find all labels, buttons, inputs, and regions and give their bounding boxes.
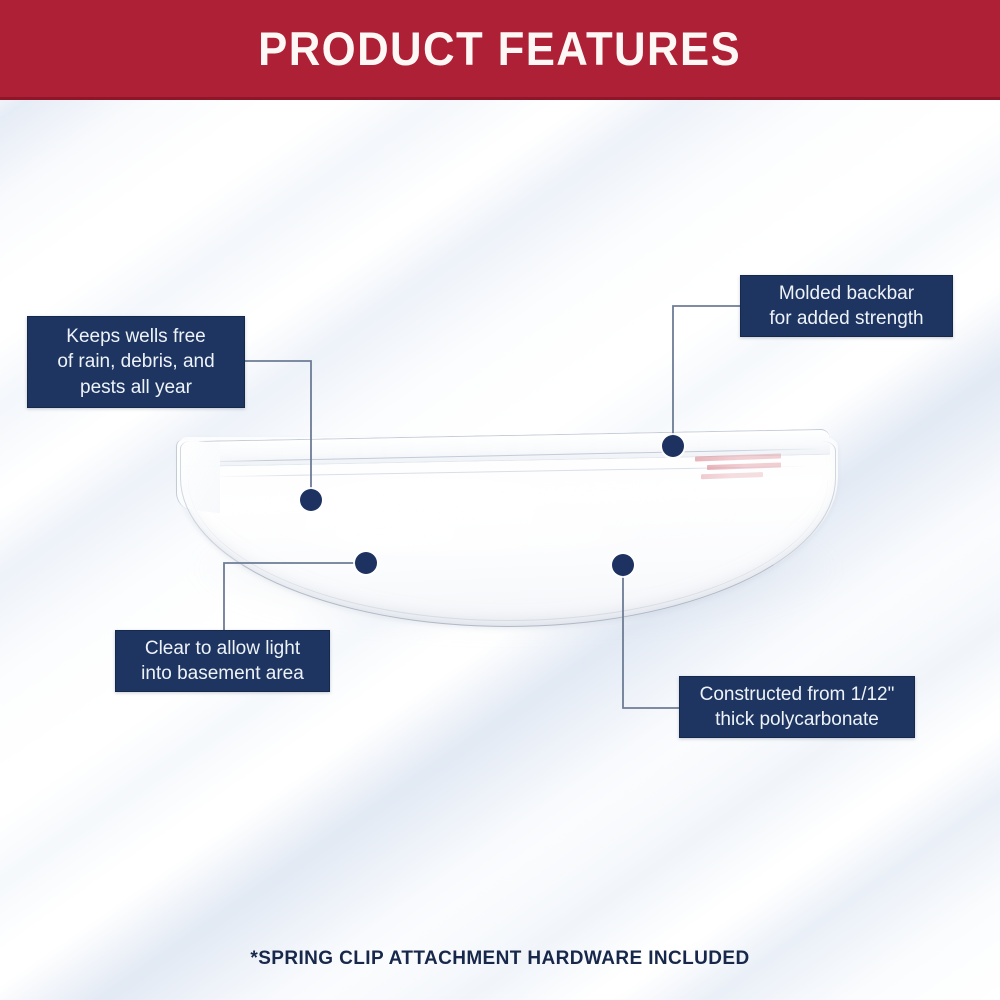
product-image	[150, 415, 860, 645]
callout-dot-molded-backbar	[662, 435, 684, 457]
product-warning-sticker	[695, 453, 781, 482]
callout-molded-backbar-line-1: Molded backbar	[769, 281, 923, 306]
callout-keeps-wells-line-3: pests all year	[57, 375, 214, 400]
callout-keeps-wells-line-2: of rain, debris, and	[57, 349, 214, 374]
page-title: PRODUCT FEATURES	[259, 21, 742, 76]
footer-note: *SPRING CLIP ATTACHMENT HARDWARE INCLUDE…	[0, 948, 1000, 970]
callout-molded-backbar-line-2: for added strength	[769, 306, 923, 331]
callout-keeps-wells-line-1: Keeps wells free	[57, 324, 214, 349]
product-features-infographic: PRODUCT FEATURES K	[0, 0, 1000, 1000]
callout-clear-light: Clear to allow light into basement area	[115, 630, 330, 692]
callout-polycarbonate-line-1: Constructed from 1/12"	[700, 682, 895, 707]
callout-molded-backbar: Molded backbar for added strength	[740, 275, 953, 337]
header-banner: PRODUCT FEATURES	[0, 0, 1000, 100]
callout-dot-clear-light	[355, 552, 377, 574]
callout-keeps-wells: Keeps wells free of rain, debris, and pe…	[27, 316, 245, 408]
callout-polycarbonate: Constructed from 1/12" thick polycarbona…	[679, 676, 915, 738]
callout-dot-polycarbonate	[612, 554, 634, 576]
callout-polycarbonate-line-2: thick polycarbonate	[700, 707, 895, 732]
callout-dot-keeps-wells	[300, 489, 322, 511]
callout-clear-light-line-1: Clear to allow light	[141, 636, 304, 661]
callout-clear-light-line-2: into basement area	[141, 661, 304, 686]
